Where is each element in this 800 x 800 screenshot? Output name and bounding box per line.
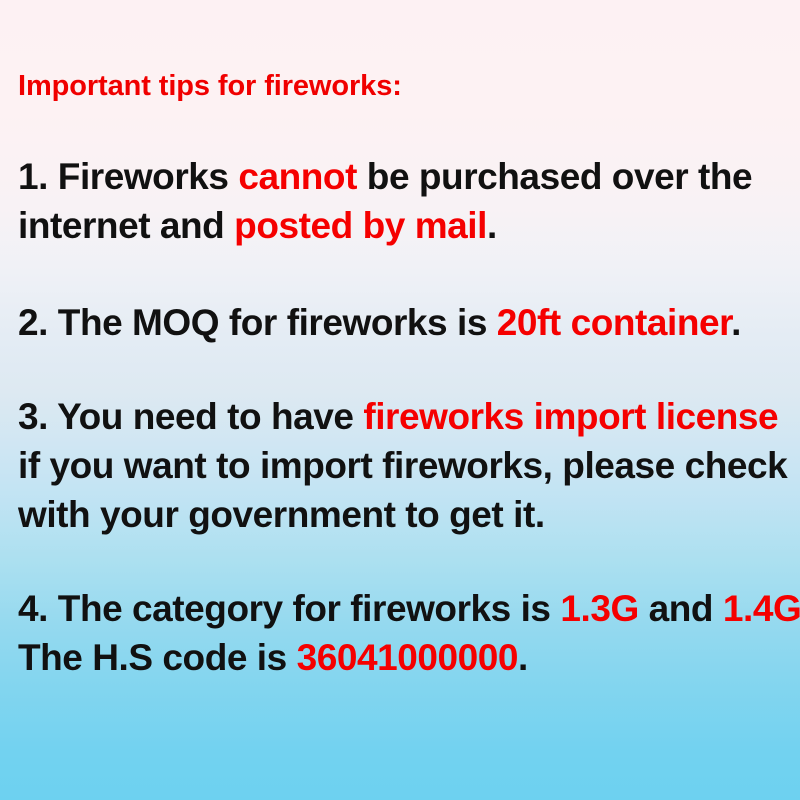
tip-4-highlight-category-14g: 1.4G — [723, 588, 800, 629]
fireworks-tips-poster: Important tips for fireworks: 1. Firewor… — [0, 0, 800, 800]
tip-1-line-2-text-a: internet and — [18, 205, 234, 246]
tip-1-line-2: internet and posted by mail. — [18, 201, 790, 250]
tip-2-line-1-text-b: . — [731, 302, 741, 343]
tip-4-highlight-hs-code: 36041000000 — [297, 637, 518, 678]
tip-4-highlight-category-13g: 1.3G — [560, 588, 638, 629]
tip-4-line-1-text-mid: and — [639, 588, 723, 629]
tip-1-line-1: 1. Fireworks cannot be purchased over th… — [18, 152, 790, 201]
tip-2-highlight-moq: 20ft container — [497, 302, 731, 343]
tip-1-highlight-cannot: cannot — [238, 156, 357, 197]
tip-3-line-2: if you want to import fireworks, please … — [18, 441, 790, 490]
tip-4-line-1-text-a: 4. The category for fireworks is — [18, 588, 560, 629]
tip-4-line-1: 4. The category for fireworks is 1.3G an… — [18, 584, 790, 633]
tip-item-4: 4. The category for fireworks is 1.3G an… — [18, 584, 790, 682]
tip-4-line-2-text-a: The H.S code is — [18, 637, 297, 678]
tip-item-1: 1. Fireworks cannot be purchased over th… — [18, 152, 790, 250]
tip-3-line-1: 3. You need to have fireworks import lic… — [18, 392, 790, 441]
tip-2-line-1-text-a: 2. The MOQ for fireworks is — [18, 302, 497, 343]
tip-3-highlight-license: fireworks import license — [363, 396, 778, 437]
tip-4-line-2-text-b: . — [518, 637, 528, 678]
tip-4-line-2: The H.S code is 36041000000. — [18, 633, 790, 682]
tip-3-line-1-text-a: 3. You need to have — [18, 396, 363, 437]
tip-1-line-2-text-b: . — [487, 205, 497, 246]
page-title: Important tips for fireworks: — [18, 72, 402, 101]
tip-2-line-1: 2. The MOQ for fireworks is 20ft contain… — [18, 298, 790, 347]
tip-3-line-3: with your government to get it. — [18, 490, 790, 539]
tip-item-2: 2. The MOQ for fireworks is 20ft contain… — [18, 298, 790, 347]
tip-item-3: 3. You need to have fireworks import lic… — [18, 392, 790, 539]
tip-1-line-1-text-a: 1. Fireworks — [18, 156, 238, 197]
tip-1-highlight-posted-by-mail: posted by mail — [234, 205, 487, 246]
tip-1-line-1-text-b: be purchased over the — [357, 156, 752, 197]
